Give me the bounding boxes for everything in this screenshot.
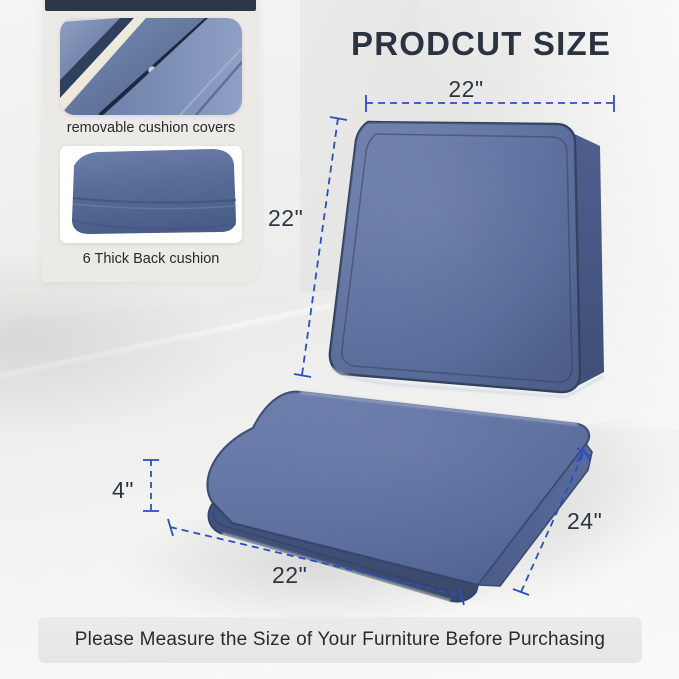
dimension-label-seat-depth-side: 24" <box>567 508 602 535</box>
zipper-closeup-photo <box>60 18 242 115</box>
dimension-back-width <box>366 95 614 112</box>
feature-panel-topbar <box>45 0 256 11</box>
product-size-infographic: PRODCUT SIZE 22" 22" 4" 22" 24" <box>0 0 679 679</box>
feature-caption-thick-cushion: 6 Thick Back cushion <box>42 251 260 267</box>
feature-panel: removable cushion covers 6 Thick Back cu… <box>42 0 260 282</box>
measure-notice-banner: Please Measure the Size of Your Furnitur… <box>38 617 642 663</box>
dimension-label-back-height: 22" <box>268 205 303 232</box>
back-cushion-highlight <box>330 122 580 392</box>
feature-caption-removable-covers: removable cushion covers <box>42 120 260 136</box>
measure-notice-text: Please Measure the Size of Your Furnitur… <box>75 629 605 651</box>
dimension-label-seat-thickness: 4" <box>112 477 134 504</box>
dimension-label-back-width: 22" <box>448 76 483 103</box>
dimension-seat-thickness <box>143 460 159 511</box>
dimension-label-seat-depth-front: 22" <box>272 562 307 589</box>
thick-cushion-photo <box>60 146 242 243</box>
page-title: PRODCUT SIZE <box>351 25 611 63</box>
